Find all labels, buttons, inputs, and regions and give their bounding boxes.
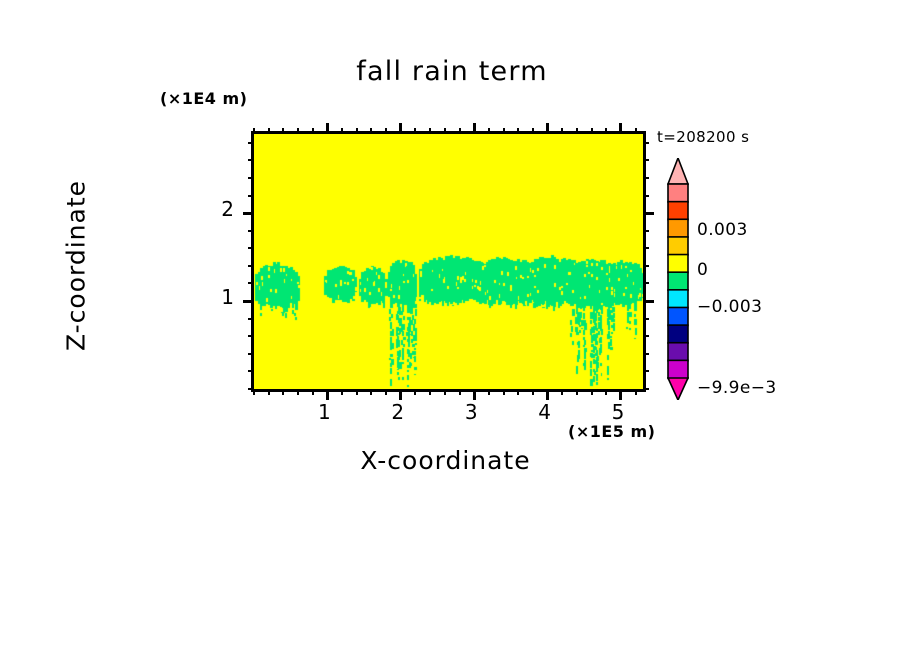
y-tick bbox=[248, 230, 254, 232]
y-tick bbox=[248, 282, 254, 284]
page-title: fall rain term bbox=[0, 56, 904, 87]
x-tick bbox=[444, 389, 446, 395]
plot-area bbox=[251, 131, 646, 392]
y-tick bbox=[243, 300, 254, 303]
x-tick bbox=[532, 389, 534, 395]
y-tick bbox=[248, 353, 254, 355]
x-tick-label: 2 bbox=[378, 400, 418, 424]
x-tick-top bbox=[635, 128, 637, 134]
x-tick bbox=[385, 389, 387, 395]
x-tick bbox=[341, 389, 343, 395]
x-tick-top bbox=[532, 128, 534, 134]
y-tick-right bbox=[643, 300, 654, 303]
y-tick bbox=[248, 247, 254, 249]
x-tick-top bbox=[517, 128, 519, 134]
x-tick-top bbox=[605, 128, 607, 134]
x-tick bbox=[591, 389, 593, 395]
colorbar-tick-label: −9.9e−3 bbox=[697, 378, 777, 398]
x-tick-top bbox=[282, 128, 284, 134]
x-tick bbox=[326, 389, 329, 400]
x-tick-top bbox=[473, 123, 476, 134]
colorbar-tick-label: −0.003 bbox=[697, 297, 762, 317]
colorbar-tick-label: 0 bbox=[697, 260, 708, 280]
x-tick-top bbox=[503, 128, 505, 134]
time-annotation: t=208200 s bbox=[657, 128, 749, 146]
figure-canvas: fall rain term (×1E4 m) (×1E5 m) t=20820… bbox=[0, 0, 904, 654]
x-tick-top bbox=[459, 128, 461, 134]
heatmap-field bbox=[254, 134, 643, 389]
x-tick-top bbox=[312, 128, 314, 134]
x-tick-top bbox=[444, 128, 446, 134]
y-tick-right bbox=[643, 370, 649, 372]
x-tick-top bbox=[546, 123, 549, 134]
x-tick bbox=[488, 389, 490, 395]
x-tick-top bbox=[488, 128, 490, 134]
y-tick-right bbox=[643, 353, 649, 355]
x-tick bbox=[356, 389, 358, 395]
x-tick-label: 5 bbox=[598, 400, 638, 424]
x-tick-top bbox=[591, 128, 593, 134]
y-tick bbox=[248, 195, 254, 197]
x-tick bbox=[429, 389, 431, 395]
colorbar-swatches bbox=[667, 158, 689, 400]
x-tick-top bbox=[356, 128, 358, 134]
x-tick-top bbox=[576, 128, 578, 134]
x-tick bbox=[576, 389, 578, 395]
x-tick bbox=[268, 389, 270, 395]
x-tick bbox=[459, 389, 461, 395]
x-tick bbox=[282, 389, 284, 395]
y-tick-right bbox=[643, 247, 649, 249]
x-tick-top bbox=[429, 128, 431, 134]
x-tick-top bbox=[268, 128, 270, 134]
y-tick bbox=[248, 265, 254, 267]
x-tick bbox=[546, 389, 549, 400]
colorbar bbox=[667, 158, 689, 400]
y-tick-right bbox=[643, 142, 649, 144]
x-tick-label: 1 bbox=[304, 400, 344, 424]
x-tick bbox=[370, 389, 372, 395]
y-tick bbox=[248, 388, 254, 390]
x-tick bbox=[399, 389, 402, 400]
y-tick-right bbox=[643, 265, 649, 267]
y-tick bbox=[248, 335, 254, 337]
x-tick bbox=[312, 389, 314, 395]
y-tick-right bbox=[643, 159, 649, 161]
x-tick bbox=[297, 389, 299, 395]
x-tick bbox=[473, 389, 476, 400]
y-tick-right bbox=[643, 335, 649, 337]
x-tick bbox=[605, 389, 607, 395]
x-tick-label: 4 bbox=[525, 400, 565, 424]
x-tick-top bbox=[253, 128, 255, 134]
x-tick-top bbox=[370, 128, 372, 134]
y-tick bbox=[248, 318, 254, 320]
x-tick bbox=[503, 389, 505, 395]
y-tick bbox=[248, 370, 254, 372]
x-tick bbox=[517, 389, 519, 395]
x-tick-top bbox=[326, 123, 329, 134]
y-tick-right bbox=[643, 177, 649, 179]
x-unit-label: (×1E5 m) bbox=[568, 422, 655, 441]
y-tick-right bbox=[643, 282, 649, 284]
x-axis-title: X-coordinate bbox=[251, 446, 640, 475]
x-tick-top bbox=[385, 128, 387, 134]
y-tick-label: 2 bbox=[194, 197, 234, 221]
y-tick-label: 1 bbox=[194, 285, 234, 309]
x-tick-top bbox=[341, 128, 343, 134]
x-tick-label: 3 bbox=[451, 400, 491, 424]
y-tick bbox=[243, 212, 254, 215]
y-tick-right bbox=[643, 230, 649, 232]
x-tick bbox=[561, 389, 563, 395]
y-tick bbox=[248, 177, 254, 179]
y-tick-right bbox=[643, 318, 649, 320]
x-tick bbox=[635, 389, 637, 395]
y-unit-label: (×1E4 m) bbox=[160, 89, 247, 108]
x-tick-top bbox=[619, 123, 622, 134]
x-tick bbox=[619, 389, 622, 400]
colorbar-tick-label: 0.003 bbox=[697, 220, 748, 240]
y-tick-right bbox=[643, 212, 654, 215]
y-tick-right bbox=[643, 388, 649, 390]
x-tick-top bbox=[399, 123, 402, 134]
x-tick bbox=[414, 389, 416, 395]
x-tick-top bbox=[414, 128, 416, 134]
x-tick-top bbox=[297, 128, 299, 134]
y-tick bbox=[248, 159, 254, 161]
y-axis-title: Z-coordinate bbox=[62, 136, 91, 396]
y-tick-right bbox=[643, 195, 649, 197]
y-tick bbox=[248, 142, 254, 144]
x-tick-top bbox=[561, 128, 563, 134]
